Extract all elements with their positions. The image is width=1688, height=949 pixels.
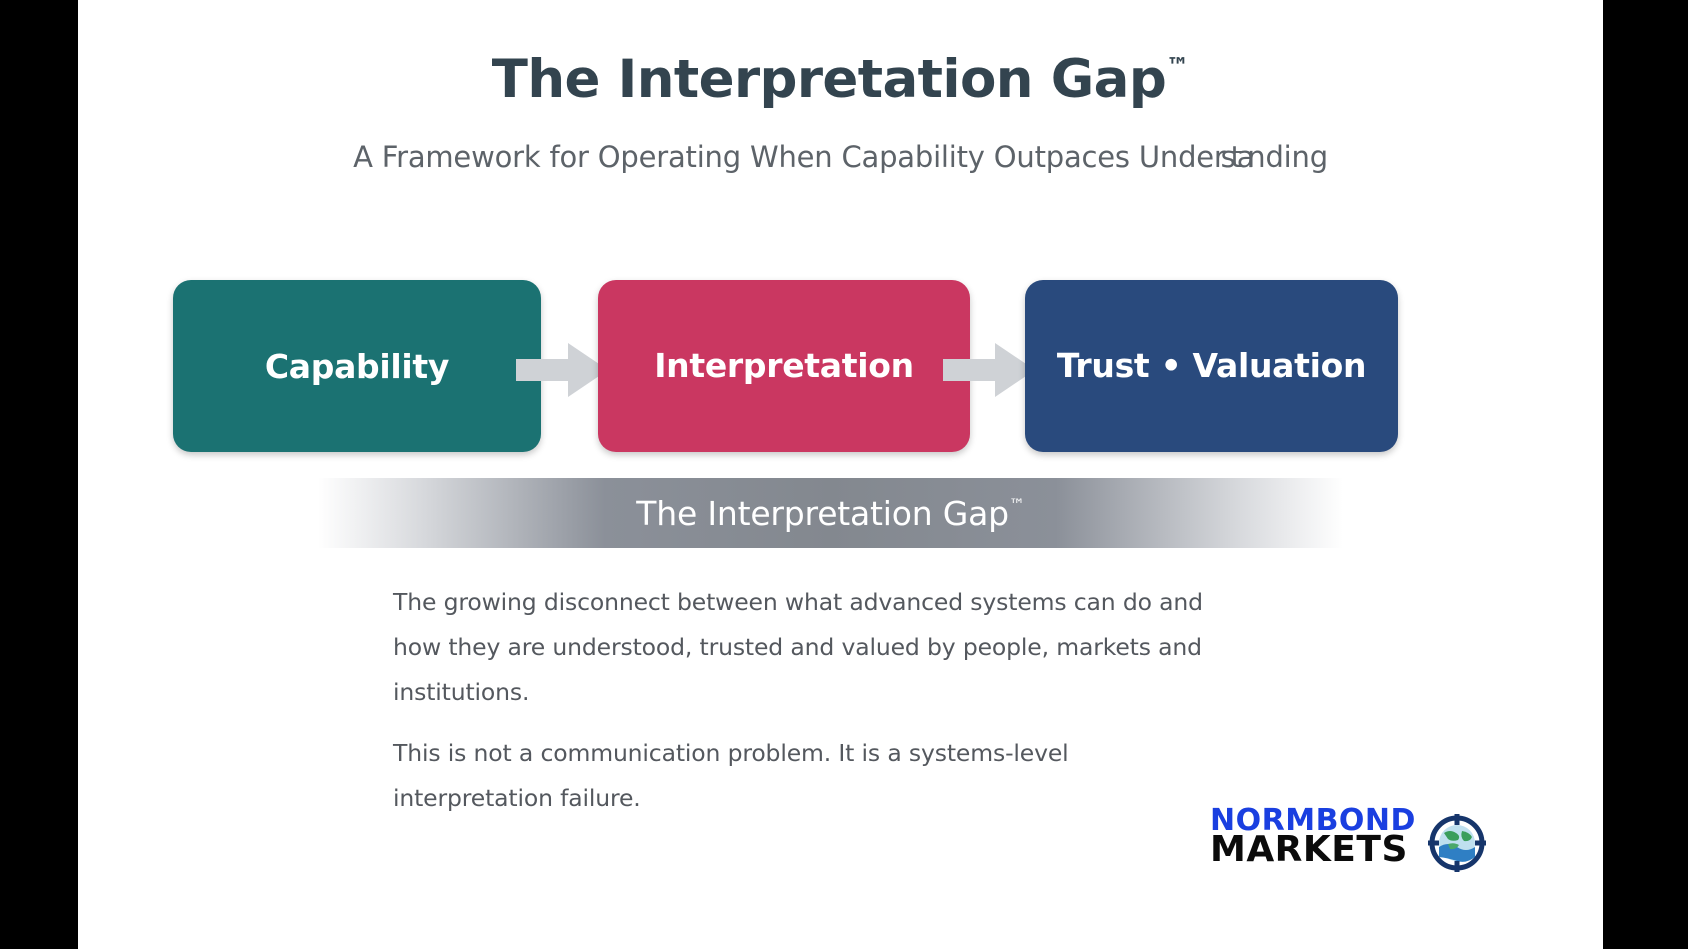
brand-logo-line-normbond: NORMBOND xyxy=(1210,808,1440,834)
page-subtitle: A Framework for Operating When Capabilit… xyxy=(78,140,1603,174)
globe-target-icon xyxy=(1428,814,1486,872)
body-paragraph-1: The growing disconnect between what adva… xyxy=(393,580,1233,715)
flow-arrow-icon-2 xyxy=(943,343,1035,397)
pipeline-stage-trust-valuation[interactable]: Trust • Valuation xyxy=(1025,280,1398,452)
pipeline-stage-capability[interactable]: Capability xyxy=(173,280,541,452)
page-subtitle-part-a: A Framework for Operating When Capabilit… xyxy=(353,140,1214,174)
flow-arrow-icon-1 xyxy=(516,343,608,397)
pipeline-stage-interpretation[interactable]: Interpretation xyxy=(598,280,970,452)
page-title: The Interpretation Gap™ xyxy=(492,52,1189,108)
page-subtitle-squeezed-part: rsta xyxy=(1214,140,1249,174)
slide-stage: The Interpretation Gap™ A Framework for … xyxy=(0,0,1688,949)
brand-logo-wordmark: NORMBOND MARKETS xyxy=(1210,808,1440,866)
pipeline-stage-trust-valuation-label: Trust • Valuation xyxy=(1057,346,1366,385)
page-subtitle-part-b: nding xyxy=(1247,140,1328,174)
slide-canvas: The Interpretation Gap™ A Framework for … xyxy=(78,0,1603,949)
page-title-text: The Interpretation Gap xyxy=(492,49,1166,110)
trademark-symbol: ™ xyxy=(1166,54,1189,80)
pipeline-diagram: Capability Interpretation Trust • Valuat… xyxy=(173,280,1498,452)
trademark-symbol-band: ™ xyxy=(1009,495,1025,514)
brand-logo: NORMBOND MARKETS xyxy=(1210,808,1515,878)
interpretation-gap-band-label: The Interpretation Gap™ xyxy=(636,494,1024,533)
body-copy: The growing disconnect between what adva… xyxy=(393,580,1293,838)
body-paragraph-2: This is not a communication problem. It … xyxy=(393,731,1183,821)
brand-logo-line-markets: MARKETS xyxy=(1210,834,1440,866)
pipeline-stage-capability-label: Capability xyxy=(265,347,449,386)
pipeline-stage-interpretation-label: Interpretation xyxy=(654,346,914,385)
title-block: The Interpretation Gap™ xyxy=(78,52,1603,108)
interpretation-gap-band-text: The Interpretation Gap xyxy=(636,494,1009,533)
interpretation-gap-band: The Interpretation Gap™ xyxy=(318,478,1343,548)
